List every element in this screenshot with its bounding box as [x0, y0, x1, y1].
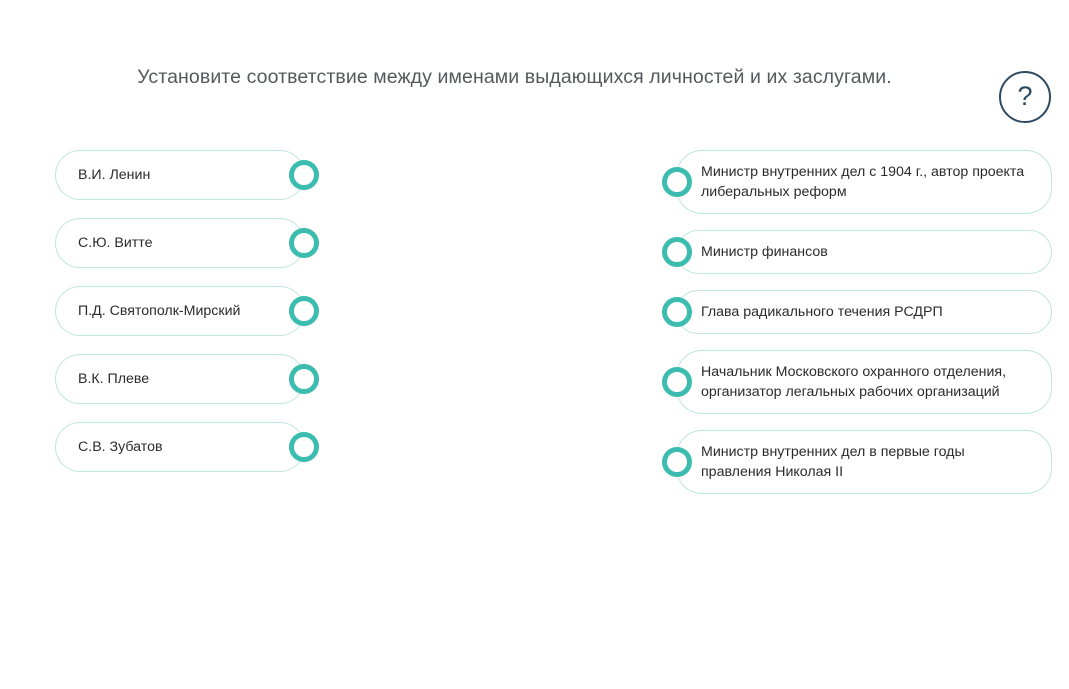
- match-item-right[interactable]: Министр финансов: [676, 230, 1052, 274]
- connector-ring-right-1[interactable]: [662, 237, 692, 267]
- match-item-right[interactable]: Начальник Московского охранного отделени…: [676, 350, 1052, 414]
- connector-ring-left-1[interactable]: [289, 228, 319, 258]
- match-item-right-label: Министр внутренних дел в первые годы пра…: [701, 442, 1029, 482]
- help-button[interactable]: ?: [999, 71, 1051, 123]
- page-title: Установите соответствие между именами вы…: [62, 62, 967, 92]
- match-item-right-label: Начальник Московского охранного отделени…: [701, 362, 1029, 402]
- match-item-right[interactable]: Министр внутренних дел в первые годы пра…: [676, 430, 1052, 494]
- question-mark-icon: ?: [1017, 83, 1032, 110]
- match-item-left-label: В.И. Ленин: [78, 165, 150, 185]
- match-item-left[interactable]: В.И. Ленин: [55, 150, 305, 200]
- right-column: Министр внутренних дел с 1904 г., автор …: [676, 150, 1052, 510]
- connector-ring-left-3[interactable]: [289, 364, 319, 394]
- match-item-right-label: Глава радикального течения РСДРП: [701, 302, 943, 322]
- connector-ring-right-2[interactable]: [662, 297, 692, 327]
- match-item-left[interactable]: П.Д. Святополк-Мирский: [55, 286, 305, 336]
- page-header: Установите соответствие между именами вы…: [0, 0, 1069, 150]
- match-item-left-label: В.К. Плеве: [78, 369, 149, 389]
- matching-board: В.И. Ленин С.Ю. Витте П.Д. Святополк-Мир…: [0, 150, 1069, 689]
- connector-ring-left-0[interactable]: [289, 160, 319, 190]
- match-item-right[interactable]: Глава радикального течения РСДРП: [676, 290, 1052, 334]
- match-item-left-label: С.Ю. Витте: [78, 233, 153, 253]
- match-item-left[interactable]: В.К. Плеве: [55, 354, 305, 404]
- match-item-left[interactable]: С.В. Зубатов: [55, 422, 305, 472]
- connector-ring-left-2[interactable]: [289, 296, 319, 326]
- connector-ring-right-4[interactable]: [662, 447, 692, 477]
- connector-ring-right-3[interactable]: [662, 367, 692, 397]
- match-item-right[interactable]: Министр внутренних дел с 1904 г., автор …: [676, 150, 1052, 214]
- connector-ring-left-4[interactable]: [289, 432, 319, 462]
- left-column: В.И. Ленин С.Ю. Витте П.Д. Святополк-Мир…: [55, 150, 305, 490]
- match-item-right-label: Министр внутренних дел с 1904 г., автор …: [701, 162, 1029, 202]
- connector-ring-right-0[interactable]: [662, 167, 692, 197]
- match-item-left[interactable]: С.Ю. Витте: [55, 218, 305, 268]
- match-item-left-label: С.В. Зубатов: [78, 437, 163, 457]
- match-item-left-label: П.Д. Святополк-Мирский: [78, 301, 240, 321]
- match-item-right-label: Министр финансов: [701, 242, 828, 262]
